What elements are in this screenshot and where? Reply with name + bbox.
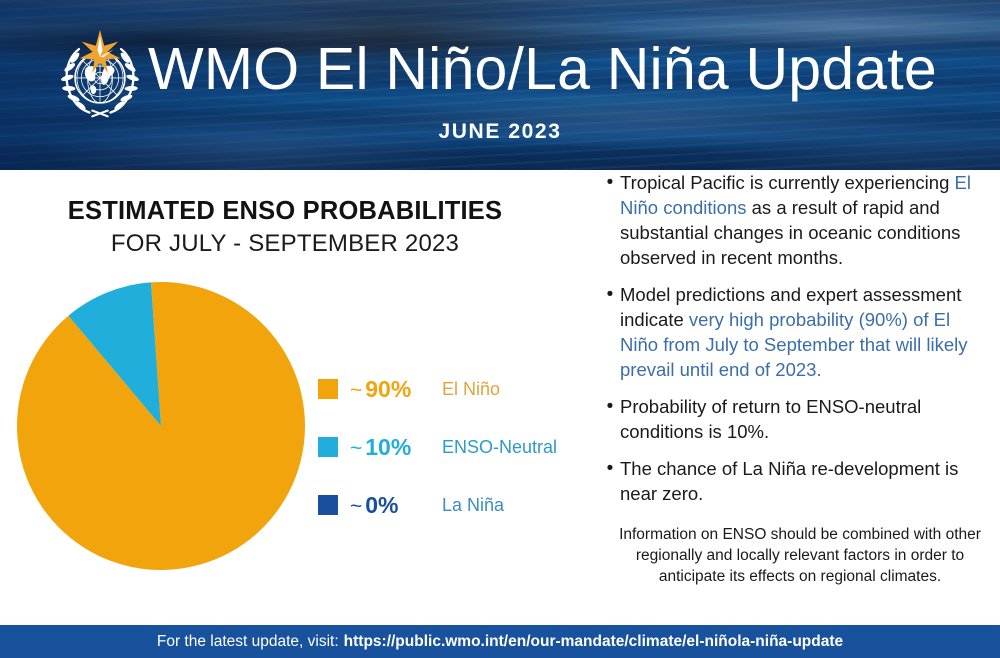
bullet-list: •Tropical Pacific is currently experienc… [592,170,1000,506]
legend-swatch-enso-neutral [318,437,338,457]
notes-panel: •Tropical Pacific is currently experienc… [592,170,1000,625]
legend-label-el-nino: El Niño [442,379,500,400]
pie-slice-group [17,282,305,570]
bullet-plain-text: Probability of return to ENSO-neutral co… [620,396,921,442]
legend-item-enso-neutral: ~10% ENSO-Neutral [318,418,588,476]
bullet-plain-text: The chance of La Niña re-development is … [620,458,958,504]
pie-slice-el-ni-o [17,282,305,570]
bullet-dot-icon: • [600,282,620,382]
legend-swatch-la-nina [318,495,338,515]
legend-label-enso-neutral: ENSO-Neutral [442,437,557,458]
bullet-dot-icon: • [600,394,620,444]
footnote-text: Information on ENSO should be combined w… [614,524,986,587]
bullet-item: •Probability of return to ENSO-neutral c… [592,394,1000,444]
pie-chart-svg [16,281,306,571]
chart-panel: ESTIMATED ENSO PROBABILITIES FOR JULY - … [0,170,592,625]
bullet-item: •Model predictions and expert assessment… [592,282,1000,382]
legend-item-el-nino: ~90% El Niño [318,360,588,418]
legend-label-la-nina: La Niña [442,495,504,516]
header-subtitle: JUNE 2023 [0,120,1000,144]
legend-item-la-nina: ~0% La Niña [318,476,588,534]
chart-legend: ~90% El Niño ~10% ENSO-Neutral ~0% La Ni… [318,360,588,534]
bullet-text: Probability of return to ENSO-neutral co… [620,394,990,444]
footer-lead-text: For the latest update, visit: [157,633,339,651]
footer-bar: For the latest update, visit: https://pu… [0,625,1000,658]
header-banner: WMO El Niño/La Niña Update JUNE 2023 [0,0,1000,170]
bullet-text: Model predictions and expert assessment … [620,282,990,382]
bullet-item: •The chance of La Niña re-development is… [592,456,1000,506]
legend-swatch-el-nino [318,379,338,399]
footer-url-link[interactable]: https://public.wmo.int/en/our-mandate/cl… [344,633,843,651]
legend-value-la-nina: ~0% [350,492,442,519]
pie-chart [16,281,306,571]
bullet-dot-icon: • [600,456,620,506]
page-title: WMO El Niño/La Niña Update [148,26,988,112]
bullet-text: The chance of La Niña re-development is … [620,456,990,506]
chart-subtitle: FOR JULY - SEPTEMBER 2023 [0,230,570,258]
wmo-logo-icon [52,28,148,124]
legend-value-enso-neutral: ~10% [350,434,442,461]
legend-value-el-nino: ~90% [350,376,442,403]
bullet-plain-text: Tropical Pacific is currently experienci… [620,172,955,193]
bullet-dot-icon: • [600,170,620,270]
bullet-text: Tropical Pacific is currently experienci… [620,170,990,270]
bullet-item: •Tropical Pacific is currently experienc… [592,170,1000,270]
infographic-page: WMO El Niño/La Niña Update JUNE 2023 EST… [0,0,1000,658]
chart-title: ESTIMATED ENSO PROBABILITIES [0,197,570,226]
